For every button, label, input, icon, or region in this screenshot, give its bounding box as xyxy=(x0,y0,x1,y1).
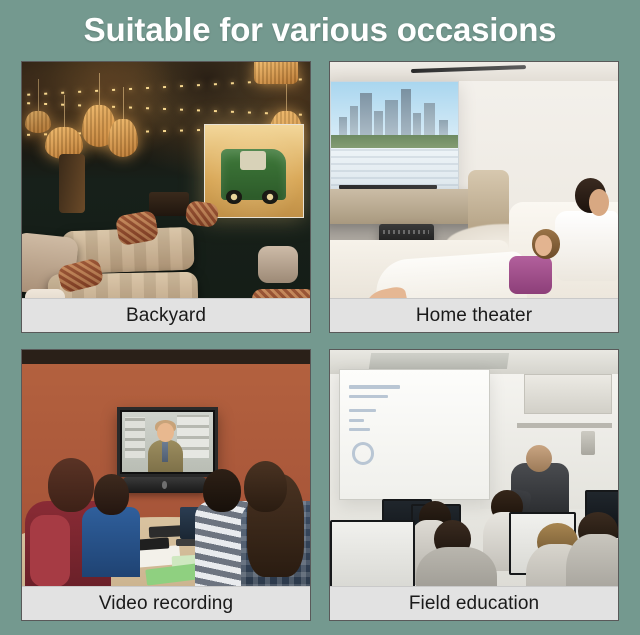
video-call-feed xyxy=(122,412,213,473)
card-caption-field-education: Field education xyxy=(330,586,618,620)
card-caption-video-recording: Video recording xyxy=(22,586,310,620)
ceiling xyxy=(330,62,618,81)
wall-cabinet xyxy=(524,374,612,414)
projection-screen xyxy=(204,124,304,218)
truck-wheel xyxy=(226,190,242,204)
wall-display xyxy=(117,407,218,478)
attendee-head xyxy=(244,461,287,512)
tree-trunk xyxy=(59,154,85,213)
instructor-head xyxy=(526,445,552,472)
rattan-lantern xyxy=(25,111,51,133)
truck-cab xyxy=(240,151,266,170)
man-body xyxy=(555,211,618,281)
occasion-card-field-education[interactable]: Field education xyxy=(329,349,619,621)
movie-truck-graphic xyxy=(221,149,286,200)
slide-text-line xyxy=(349,395,388,398)
occasion-card-video-recording[interactable]: Video recording xyxy=(21,349,311,621)
slide-text-line xyxy=(349,419,364,422)
truck-wheel xyxy=(262,190,278,204)
skyline-building xyxy=(360,93,371,139)
photo-home-theater xyxy=(330,62,618,332)
photo-backyard xyxy=(22,62,310,332)
woman-top xyxy=(509,256,552,294)
participant-face xyxy=(157,423,174,442)
page-title: Suitable for various occasions xyxy=(0,8,640,52)
ceramic-pot xyxy=(258,246,298,284)
throw-pillow xyxy=(185,200,220,228)
card-caption-backyard: Backyard xyxy=(22,298,310,332)
woman-face xyxy=(535,235,552,257)
slide-text-line xyxy=(349,428,370,431)
video-bar-camera xyxy=(123,477,207,493)
attendee-head xyxy=(48,458,94,512)
projection-screen xyxy=(339,369,491,501)
attendee-head xyxy=(94,474,129,515)
remote-participant xyxy=(148,423,184,473)
wall-rail xyxy=(517,423,612,428)
ceiling-panel xyxy=(369,353,510,369)
slide-text-line xyxy=(349,385,400,389)
photo-field-education xyxy=(330,350,618,620)
wall-speaker xyxy=(581,431,595,455)
slide-text-line xyxy=(349,409,376,412)
rattan-lantern xyxy=(254,62,298,84)
ceiling-strip xyxy=(22,350,310,364)
photo-video-recording xyxy=(22,350,310,620)
background-shelf xyxy=(125,417,145,458)
attendee-body xyxy=(82,507,140,577)
participant-scarf xyxy=(162,442,168,462)
occasions-grid: Backyard xyxy=(21,61,619,621)
computer-monitor xyxy=(330,520,415,589)
attendee-head xyxy=(203,469,240,512)
skyline-building xyxy=(401,89,411,140)
poster-root: Suitable for various occasions xyxy=(0,0,640,635)
media-cabinet xyxy=(330,189,486,224)
projected-image xyxy=(330,81,459,194)
occasion-card-backyard[interactable]: Backyard xyxy=(21,61,311,333)
slide-diagram xyxy=(352,442,374,465)
side-table xyxy=(149,192,189,216)
skyline-building xyxy=(424,103,435,140)
occasion-card-home-theater[interactable]: Home theater xyxy=(329,61,619,333)
skyline-building xyxy=(385,100,398,140)
card-caption-home-theater: Home theater xyxy=(330,298,618,332)
rattan-lantern xyxy=(108,119,138,157)
